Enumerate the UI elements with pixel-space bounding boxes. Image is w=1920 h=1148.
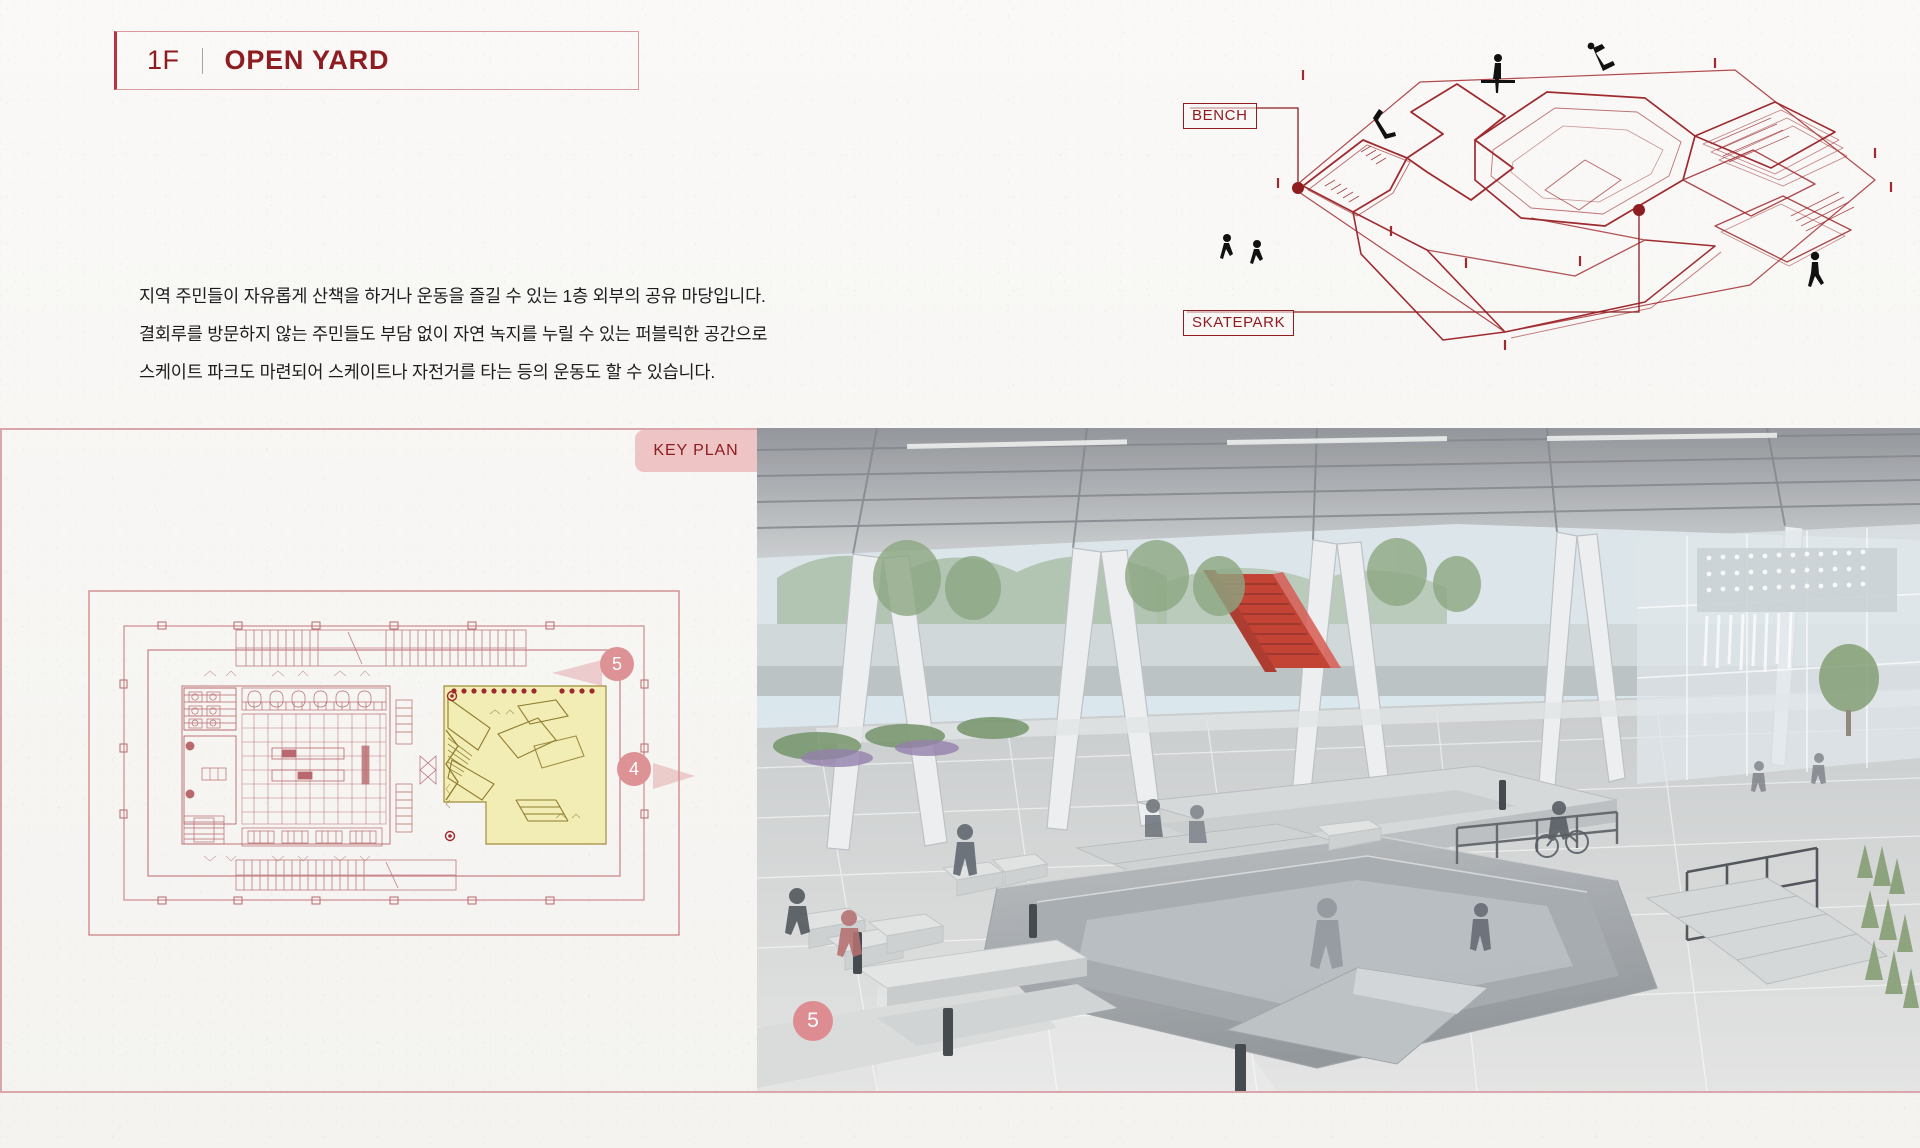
render-image	[757, 428, 1920, 1091]
callout-bench: BENCH	[1183, 103, 1257, 129]
keyplan-tab-label: KEY PLAN	[653, 442, 738, 460]
divider-bottom	[0, 1091, 1920, 1093]
keyplan-drawing	[86, 588, 682, 938]
keyplan-view-cone-4	[653, 763, 695, 789]
open-yard-highlight	[444, 686, 606, 844]
keyplan-marker-4[interactable]: 4	[617, 752, 651, 786]
keyplan-tab: KEY PLAN	[635, 430, 757, 472]
render-scene	[757, 428, 1920, 1091]
presentation-board: 1F OPEN YARD 지역 주민들이 자유롭게 산책을 하거나 운동을 즐길…	[0, 0, 1920, 1148]
keyplan-marker-5[interactable]: 5	[600, 647, 634, 681]
description-block: 지역 주민들이 자유롭게 산책을 하거나 운동을 즐길 수 있는 1층 외부의 …	[139, 277, 899, 391]
callout-skatepark: SKATEPARK	[1183, 310, 1294, 336]
keyplan-view-cone-5	[552, 660, 602, 686]
description-line-3: 스케이트 파크도 마련되어 스케이트나 자전거를 타는 등의 운동도 할 수 있…	[139, 353, 899, 391]
render-view-badge: 5	[793, 1001, 833, 1041]
page-title-box: 1F OPEN YARD	[114, 31, 639, 90]
title-separator	[202, 48, 203, 74]
description-line-2: 결회루를 방문하지 않는 주민들도 부담 없이 자연 녹지를 누릴 수 있는 퍼…	[139, 315, 899, 353]
description-line-1: 지역 주민들이 자유롭게 산책을 하거나 운동을 즐길 수 있는 1층 외부의 …	[139, 277, 899, 315]
page-title-floor: 1F	[147, 45, 180, 76]
bench-anchor-dot	[1292, 182, 1304, 194]
page-title: OPEN YARD	[225, 45, 390, 76]
keyplan-floorplan-linework	[86, 588, 682, 938]
human-figures	[1220, 43, 1824, 287]
skatepark-anchor-dot	[1633, 204, 1645, 216]
divider-left-vertical	[0, 428, 2, 1092]
